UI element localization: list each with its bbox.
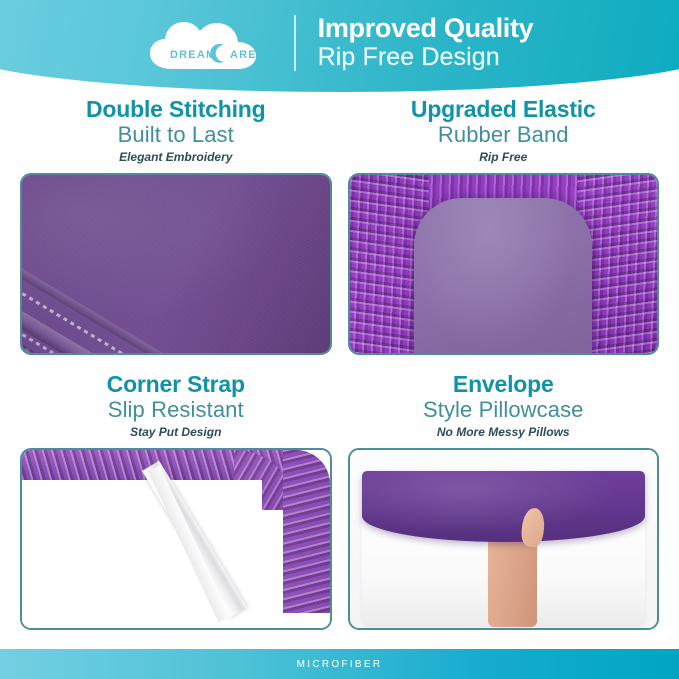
feature-photo-upgraded-elastic <box>348 173 660 355</box>
feature-photo-double-stitching <box>20 173 332 355</box>
feature-caption: Elegant Embroidery <box>119 149 232 165</box>
logo-word-are: ARE <box>230 49 257 61</box>
feature-title: Envelope <box>453 371 554 397</box>
page-header: DREAM ARE Improved Quality Rip Free Desi… <box>0 0 679 92</box>
page-footer: MICROFIBER <box>0 649 679 679</box>
cloud-icon: DREAM ARE <box>146 17 274 73</box>
feature-caption: Stay Put Design <box>130 424 221 440</box>
brand-logo: DREAM ARE <box>146 17 274 73</box>
header-subtitle: Rip Free Design <box>318 43 534 72</box>
header-divider <box>294 15 296 71</box>
header-title: Improved Quality <box>318 13 534 43</box>
feature-subtitle: Slip Resistant <box>108 397 244 422</box>
feature-subtitle: Built to Last <box>118 122 234 147</box>
feature-title: Upgraded Elastic <box>411 96 596 122</box>
feature-card-upgraded-elastic: Upgraded Elastic Rubber Band Rip Free <box>348 96 660 367</box>
feature-card-envelope-pillowcase: Envelope Style Pillowcase No More Messy … <box>348 371 660 642</box>
feature-card-double-stitching: Double Stitching Built to Last Elegant E… <box>20 96 332 367</box>
feature-grid: Double Stitching Built to Last Elegant E… <box>0 96 679 641</box>
feature-subtitle: Style Pillowcase <box>423 397 584 422</box>
feature-title: Corner Strap <box>107 371 245 397</box>
feature-subtitle: Rubber Band <box>438 122 569 147</box>
material-label: MICROFIBER <box>297 659 383 670</box>
feature-caption: No More Messy Pillows <box>437 424 570 440</box>
feature-photo-envelope-pillowcase <box>348 448 660 630</box>
feature-photo-corner-strap <box>20 448 332 630</box>
feature-card-corner-strap: Corner Strap Slip Resistant Stay Put Des… <box>20 371 332 642</box>
feature-caption: Rip Free <box>479 149 527 165</box>
feature-title: Double Stitching <box>86 96 266 122</box>
logo-word-dream: DREAM <box>170 49 216 61</box>
